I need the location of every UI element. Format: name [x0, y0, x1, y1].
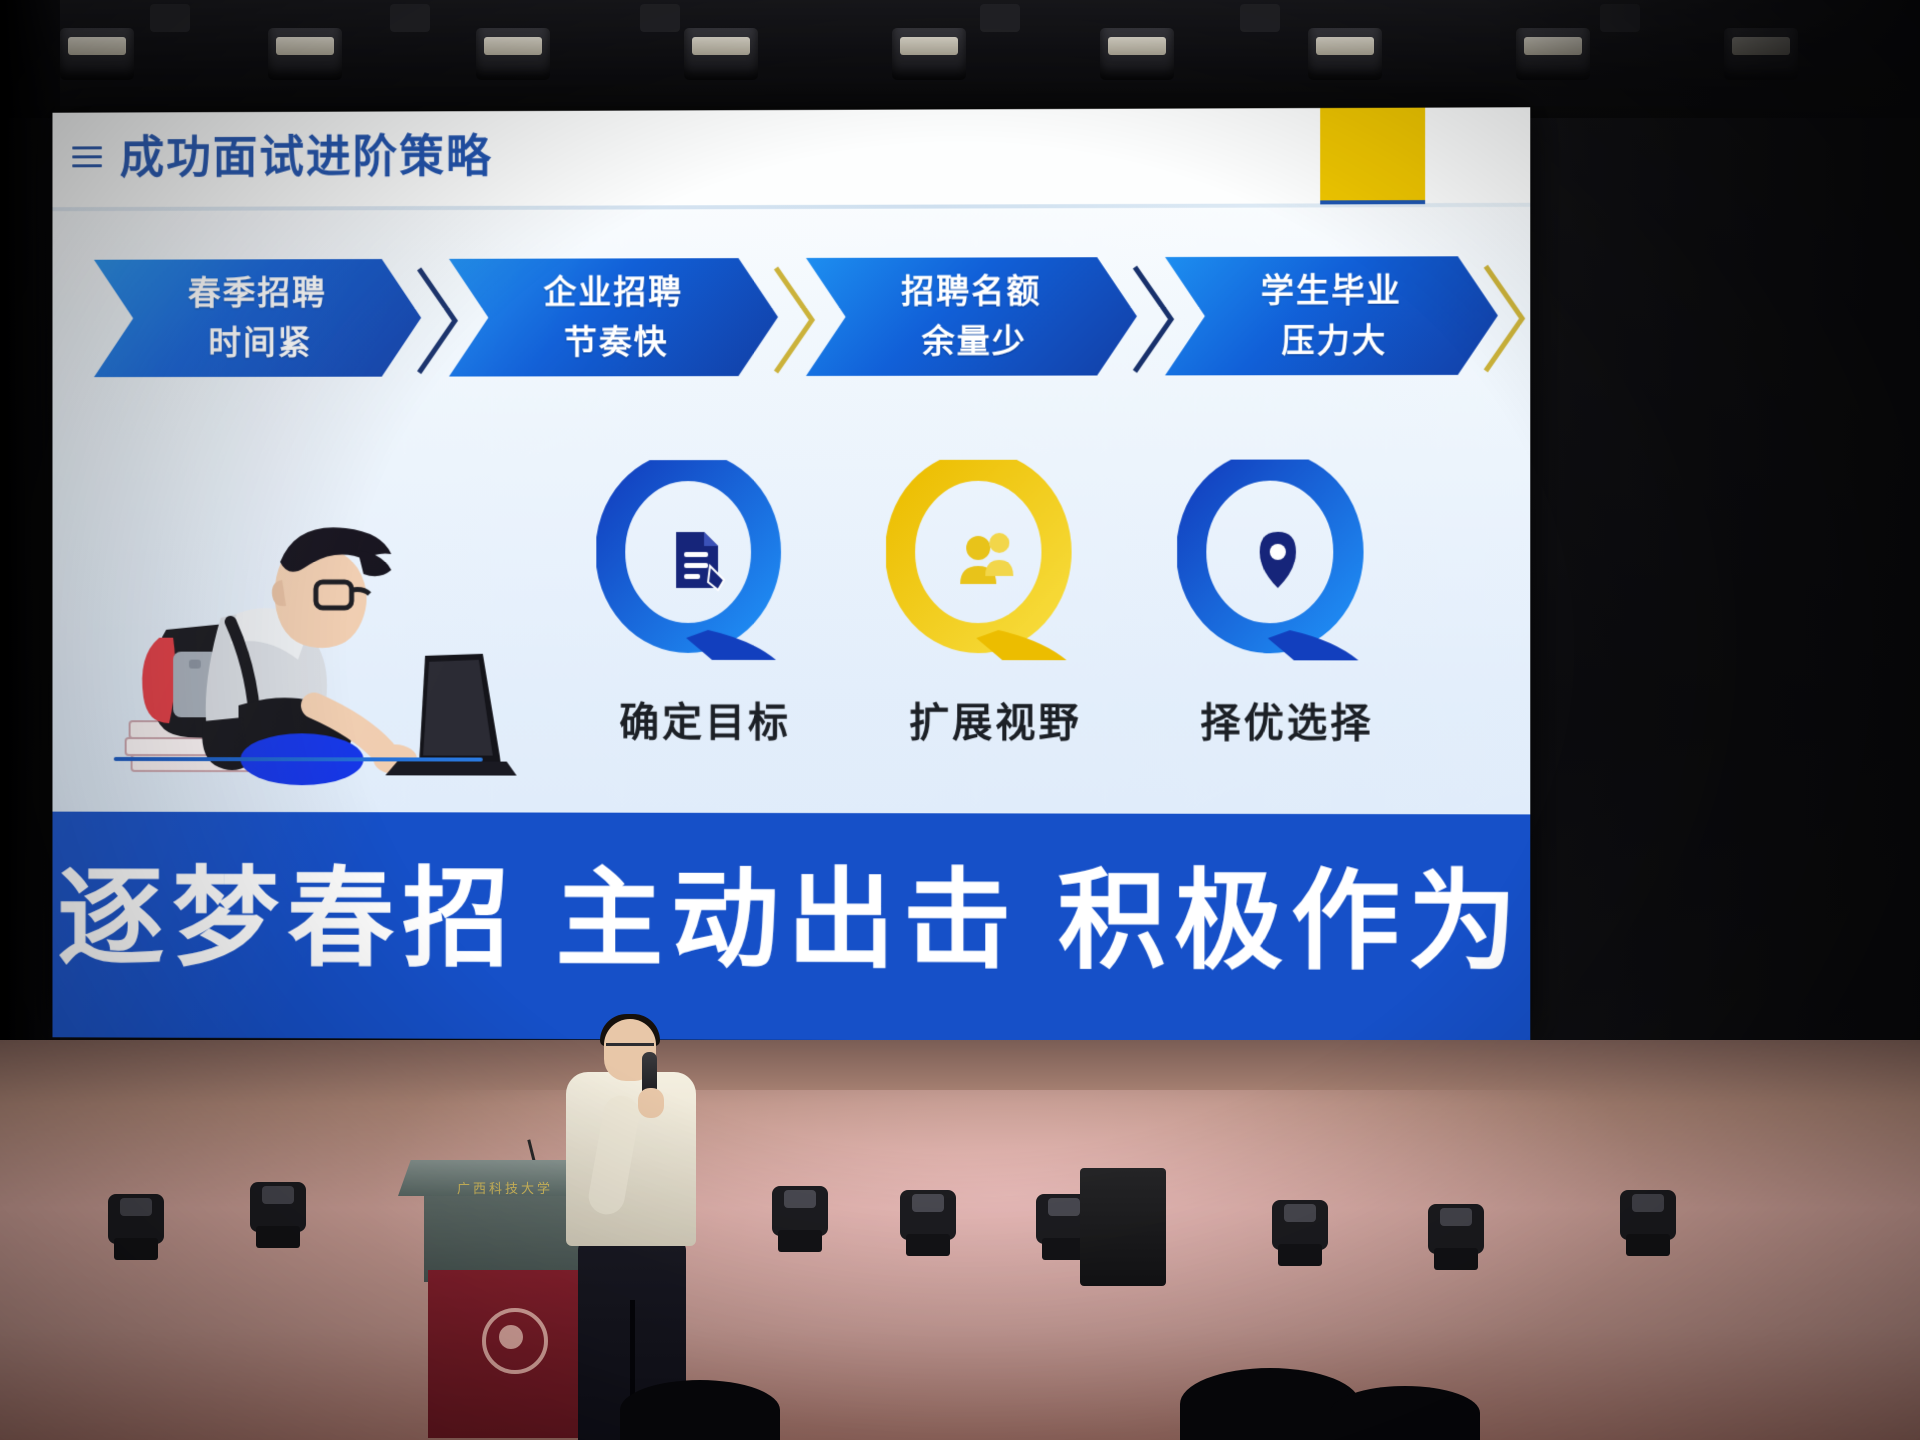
step-line-1: 春季招聘: [188, 268, 327, 318]
truss-fixture: [1240, 4, 1280, 32]
page-title: 成功面试进阶策略: [120, 127, 493, 188]
led-presentation-screen: 成功面试进阶策略 春季招聘 时间紧 企业招聘 节奏快: [52, 107, 1530, 1043]
step-line-1: 招聘名额: [901, 266, 1041, 316]
truss-light: [60, 28, 134, 80]
truss-light: [684, 28, 758, 80]
process-steps-row: 春季招聘 时间紧 企业招聘 节奏快 招聘名额 余量少: [52, 256, 1530, 399]
truss-light: [1100, 28, 1174, 80]
pillar-label: 择优选择: [1161, 690, 1413, 749]
location-pin-icon: [1244, 526, 1313, 594]
moving-head-light: [772, 1182, 828, 1252]
podium-label: 广西科技大学: [430, 1178, 580, 1194]
slide-banner: 逐梦春招 主动出击 积极作为: [52, 812, 1530, 1043]
pillar-label: 扩展视野: [870, 690, 1121, 748]
pillar-3: 择优选择: [1177, 459, 1399, 750]
pillar-1: 确定目标: [596, 460, 816, 750]
process-step-2: 企业招聘 节奏快: [449, 258, 778, 377]
process-step-3: 招聘名额 余量少: [806, 257, 1137, 376]
moving-head-light: [250, 1178, 306, 1248]
truss-light: [892, 28, 966, 80]
banner-text: 逐梦春招 主动出击 积极作为: [52, 843, 1530, 997]
step-line-1: 学生毕业: [1261, 265, 1402, 316]
slide: 成功面试进阶策略 春季招聘 时间紧 企业招聘 节奏快: [52, 107, 1530, 1043]
process-step-4: 学生毕业 压力大: [1165, 256, 1498, 375]
step-separator-4-icon: [1476, 250, 1531, 387]
users-group-icon: [952, 526, 1020, 594]
step-line-2: 压力大: [1281, 316, 1387, 366]
university-emblem: [482, 1308, 548, 1374]
truss-light: [1308, 28, 1382, 80]
step-line-2: 余量少: [922, 317, 1027, 367]
moving-head-light: [1620, 1186, 1676, 1256]
audience-silhouette: [1330, 1386, 1480, 1440]
pillar-2: 扩展视野: [886, 460, 1107, 751]
document-pen-icon: [662, 526, 730, 594]
hamburger-icon: [72, 146, 102, 168]
process-step-1: 春季招聘 时间紧: [94, 259, 421, 377]
hall-wall-left: [0, 0, 60, 1180]
truss-fixture: [390, 4, 430, 32]
moving-head-light: [900, 1186, 956, 1256]
illustration-ground-line: [114, 757, 483, 762]
step-line-2: 节奏快: [564, 317, 669, 367]
step-line-2: 时间紧: [208, 318, 312, 368]
truss-light: [476, 28, 550, 80]
truss-light: [268, 28, 342, 80]
audience-silhouette: [620, 1380, 780, 1440]
hall-wall-right: [1500, 0, 1920, 1060]
step-line-1: 企业招聘: [544, 267, 684, 317]
student-with-laptop-illustration: [112, 510, 529, 809]
pillars-row: 确定目标: [596, 459, 1399, 750]
moving-head-light: [1272, 1196, 1328, 1266]
screenshot-root: 成功面试进阶策略 春季招聘 时间紧 企业招聘 节奏快: [0, 0, 1920, 1440]
moving-head-light: [1428, 1200, 1484, 1270]
truss-fixture: [980, 4, 1020, 32]
pillar-label: 确定目标: [580, 690, 830, 748]
stage-monitor-speaker: [1080, 1168, 1166, 1286]
accent-block: [1320, 108, 1425, 201]
moving-head-light: [108, 1190, 164, 1260]
speaker-hand: [638, 1088, 664, 1118]
truss-fixture: [150, 4, 190, 32]
truss-fixture: [640, 4, 680, 32]
